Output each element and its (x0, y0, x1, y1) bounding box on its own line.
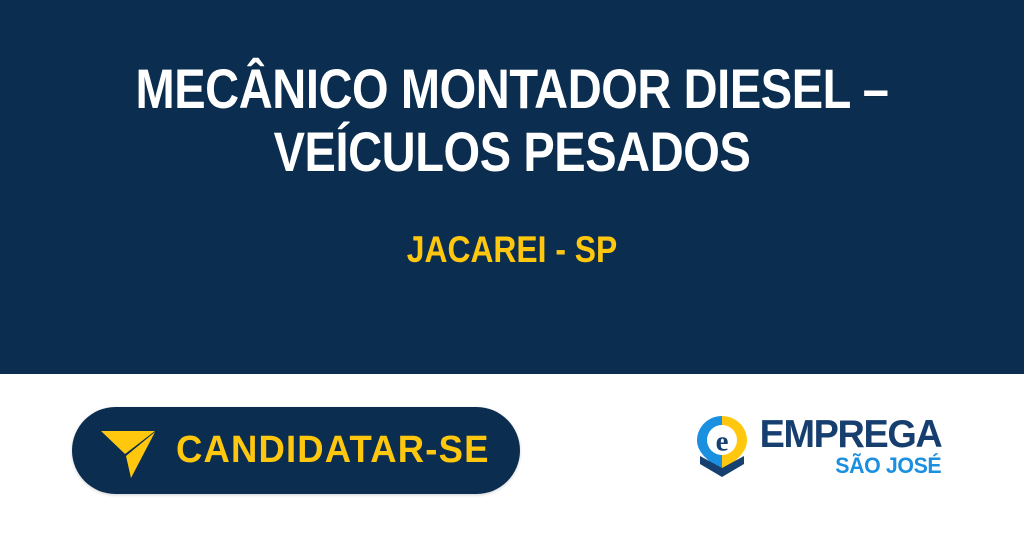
apply-button[interactable]: CANDIDATAR-SE (72, 407, 520, 494)
job-posting-banner: MECÂNICO MONTADOR DIESEL – VEÍCULOS PESA… (0, 0, 1024, 538)
header-band: MECÂNICO MONTADOR DIESEL – VEÍCULOS PESA… (0, 0, 1024, 374)
brand-logo: e EMPREGA SÃO JOSÉ (694, 415, 910, 477)
footer-area: CANDIDATAR-SE (0, 374, 1024, 538)
svg-text:e: e (716, 426, 729, 458)
job-location-label: JACAREI - SP (72, 228, 953, 272)
location-pin-with-e-icon: e (694, 415, 750, 477)
apply-button-label: CANDIDATAR-SE (176, 429, 490, 472)
brand-wordmark: EMPREGA SÃO JOSÉ (754, 415, 941, 477)
brand-secondary-text: SÃO JOSÉ (835, 455, 941, 477)
brand-primary-text: EMPREGA (760, 415, 942, 454)
page-title: MECÂNICO MONTADOR DIESEL – VEÍCULOS PESA… (82, 57, 942, 183)
title-block: MECÂNICO MONTADOR DIESEL – VEÍCULOS PESA… (0, 57, 1024, 183)
send-paper-plane-icon (98, 421, 158, 481)
